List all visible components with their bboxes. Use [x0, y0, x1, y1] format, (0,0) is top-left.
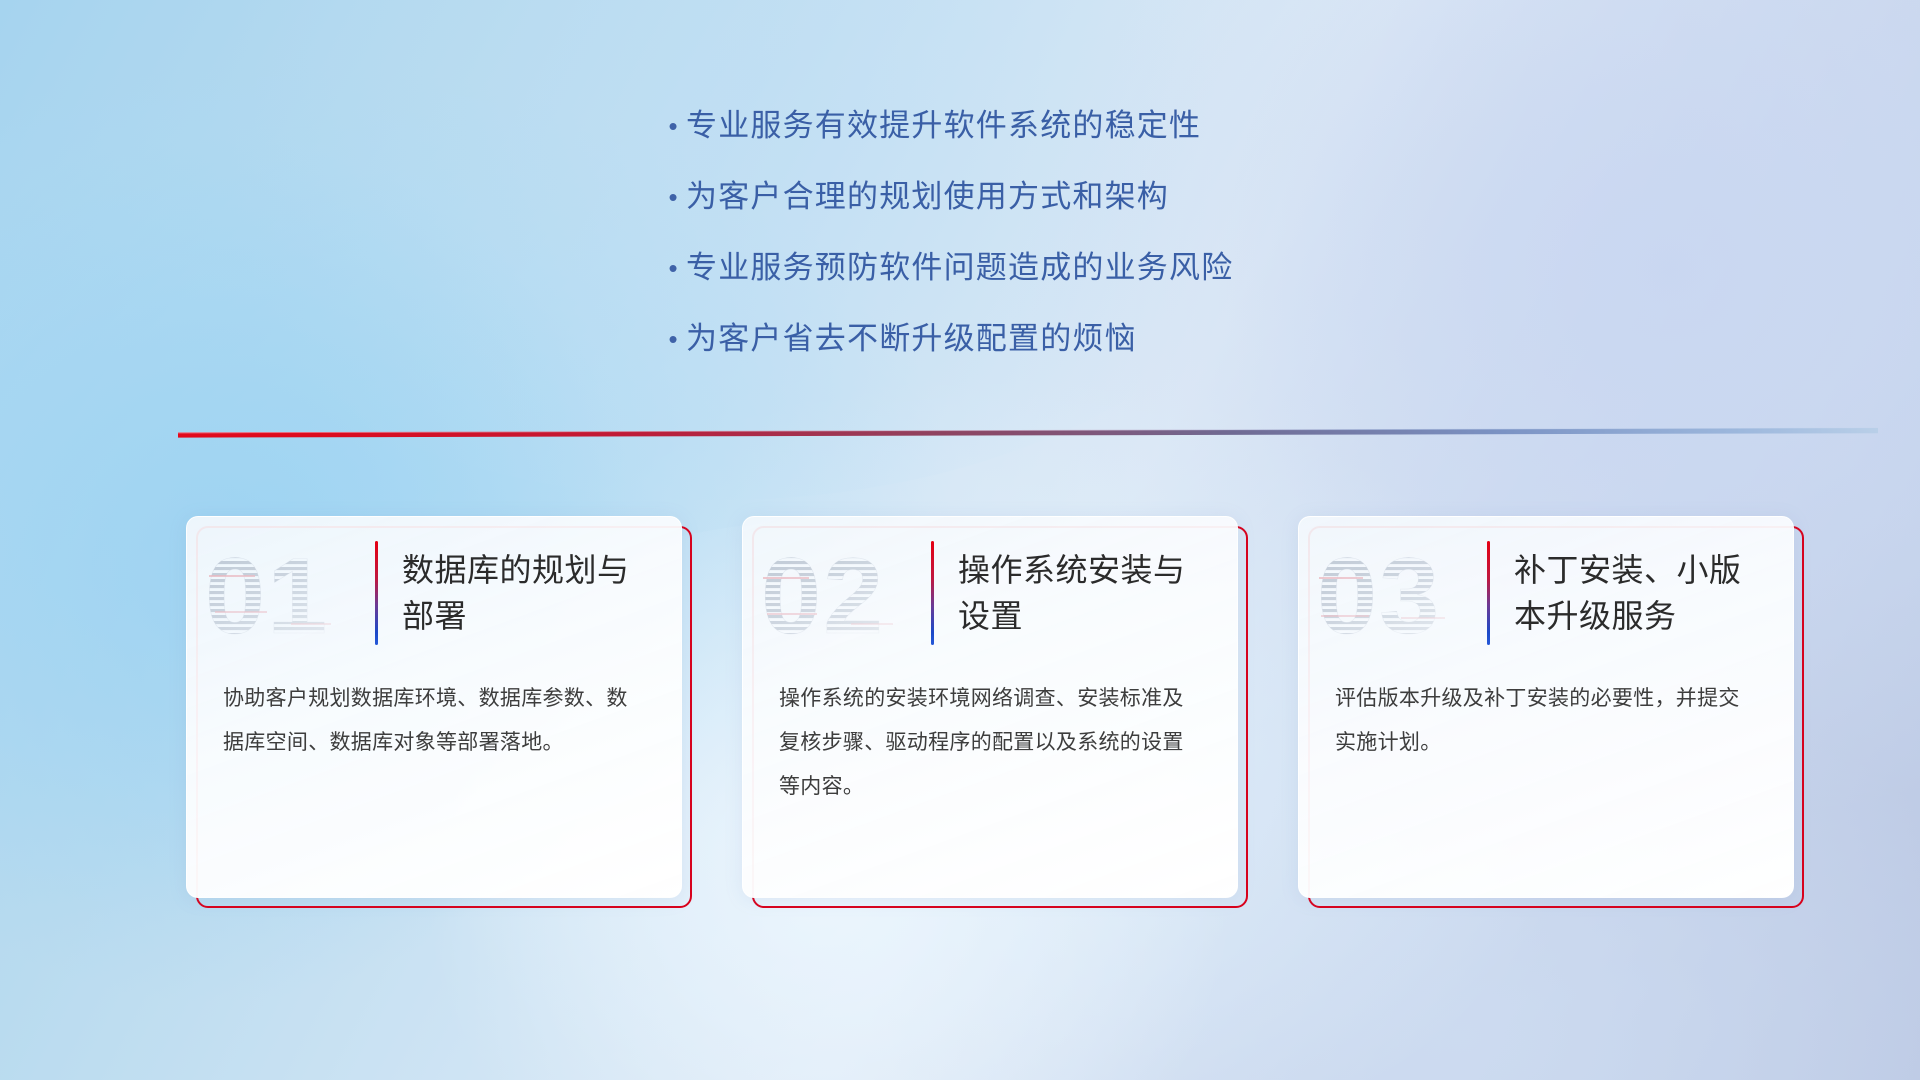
bullet-text: 为客户合理的规划使用方式和架构: [686, 175, 1169, 219]
card-title-divider: [931, 541, 934, 645]
bullet-marker-icon: •: [660, 317, 686, 361]
service-card-list: 01 01 数据库的规划与部署 协助客户规划数据库环境、数据库参数、数据库空间、…: [186, 516, 1846, 898]
svg-text:02: 02: [761, 537, 885, 649]
list-item: • 为客户省去不断升级配置的烦恼: [660, 317, 1480, 361]
bullet-marker-icon: •: [660, 104, 686, 148]
bullet-marker-icon: •: [660, 175, 686, 219]
card-title: 操作系统安装与设置: [958, 547, 1208, 639]
card-body-text: 操作系统的安装环境网络调查、安装标准及复核步骤、驱动程序的配置以及系统的设置等内…: [743, 669, 1237, 809]
card-panel: 02 02 操作系统安装与设置 操作系统的安装环境网络调查、安装标准及复核步骤、…: [742, 516, 1238, 898]
benefits-bullet-list: • 专业服务有效提升软件系统的稳定性 • 为客户合理的规划使用方式和架构 • 专…: [660, 104, 1480, 388]
card-header: 01 01 数据库的规划与部署: [187, 517, 681, 669]
list-item: • 专业服务预防软件问题造成的业务风险: [660, 246, 1480, 290]
bullet-marker-icon: •: [660, 246, 686, 290]
card-title-divider: [1487, 541, 1490, 645]
bullet-text: 专业服务有效提升软件系统的稳定性: [686, 104, 1201, 148]
bullet-text: 为客户省去不断升级配置的烦恼: [686, 317, 1137, 361]
card-number-graphic: 03 03: [1315, 537, 1483, 649]
divider-graphic: [178, 420, 1878, 442]
card-title: 补丁安装、小版本升级服务: [1514, 547, 1764, 639]
service-card[interactable]: 02 02 操作系统安装与设置 操作系统的安装环境网络调查、安装标准及复核步骤、…: [742, 516, 1238, 898]
card-panel: 01 01 数据库的规划与部署 协助客户规划数据库环境、数据库参数、数据库空间、…: [186, 516, 682, 898]
service-card[interactable]: 03 03 补丁安装、小版本升级服务 评估版本升级及补丁安装的必要性，并提交实施…: [1298, 516, 1794, 898]
list-item: • 专业服务有效提升软件系统的稳定性: [660, 104, 1480, 148]
bullet-text: 专业服务预防软件问题造成的业务风险: [686, 246, 1233, 290]
card-number-graphic: 02 02: [759, 537, 927, 649]
card-title: 数据库的规划与部署: [402, 547, 652, 639]
service-card[interactable]: 01 01 数据库的规划与部署 协助客户规划数据库环境、数据库参数、数据库空间、…: [186, 516, 682, 898]
card-panel: 03 03 补丁安装、小版本升级服务 评估版本升级及补丁安装的必要性，并提交实施…: [1298, 516, 1794, 898]
list-item: • 为客户合理的规划使用方式和架构: [660, 175, 1480, 219]
svg-text:03: 03: [1317, 537, 1441, 649]
slide-canvas: • 专业服务有效提升软件系统的稳定性 • 为客户合理的规划使用方式和架构 • 专…: [0, 0, 1920, 1080]
card-header: 02 02 操作系统安装与设置: [743, 517, 1237, 669]
card-title-divider: [375, 541, 378, 645]
section-divider: [178, 420, 1878, 442]
svg-text:01: 01: [205, 537, 329, 649]
card-body-text: 协助客户规划数据库环境、数据库参数、数据库空间、数据库对象等部署落地。: [187, 669, 681, 765]
card-header: 03 03 补丁安装、小版本升级服务: [1299, 517, 1793, 669]
card-number-graphic: 01 01: [203, 537, 371, 649]
card-body-text: 评估版本升级及补丁安装的必要性，并提交实施计划。: [1299, 669, 1793, 765]
